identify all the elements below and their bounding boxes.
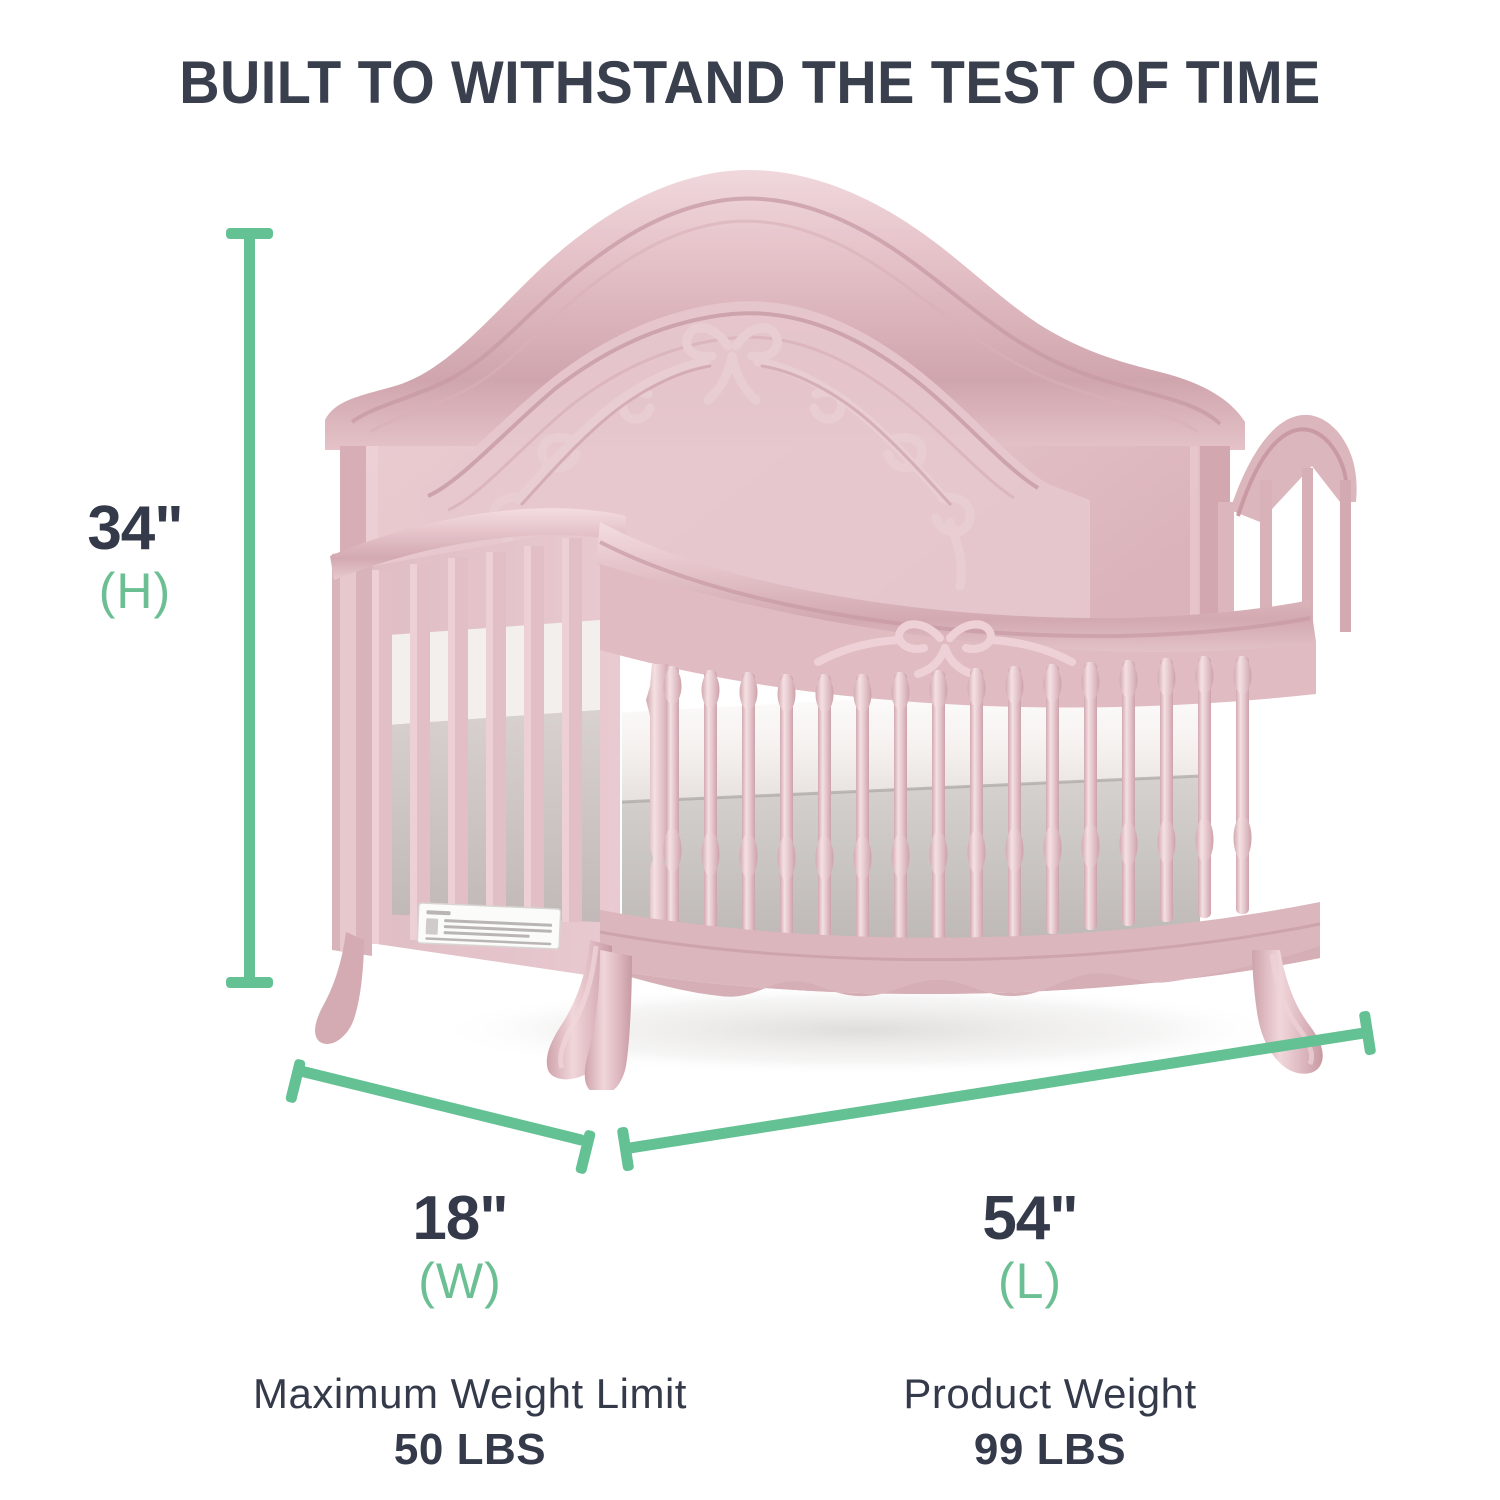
spec-max-weight-limit-value: 50 LBS (180, 1421, 760, 1478)
length-axis: (L) (900, 1250, 1160, 1313)
width-value: 18" (330, 1188, 590, 1250)
width-axis: (W) (330, 1250, 590, 1313)
height-dimension-cap-top (226, 228, 273, 239)
length-dimension-label: 54" (L) (900, 1188, 1160, 1313)
height-dimension-cap-bottom (226, 977, 273, 988)
length-dimension-cap-right (1359, 1010, 1377, 1055)
spec-product-weight: Product Weight 99 LBS (790, 1368, 1310, 1478)
width-dimension-label: 18" (W) (330, 1188, 590, 1313)
spec-max-weight-limit-title: Maximum Weight Limit (180, 1368, 760, 1421)
height-axis: (H) (40, 560, 230, 623)
height-dimension-line (244, 232, 255, 984)
infographic-page: BUILT TO WITHSTAND THE TEST OF TIME (0, 0, 1500, 1500)
page-title: BUILT TO WITHSTAND THE TEST OF TIME (53, 48, 1448, 117)
spec-max-weight-limit: Maximum Weight Limit 50 LBS (180, 1368, 760, 1478)
length-value: 54" (900, 1188, 1160, 1250)
height-value: 34" (40, 498, 230, 560)
product-label-sticker (417, 903, 561, 949)
height-dimension-label: 34" (H) (40, 498, 230, 623)
spec-product-weight-value: 99 LBS (790, 1421, 1310, 1478)
product-image-crib (300, 150, 1360, 1090)
spec-product-weight-title: Product Weight (790, 1368, 1310, 1421)
